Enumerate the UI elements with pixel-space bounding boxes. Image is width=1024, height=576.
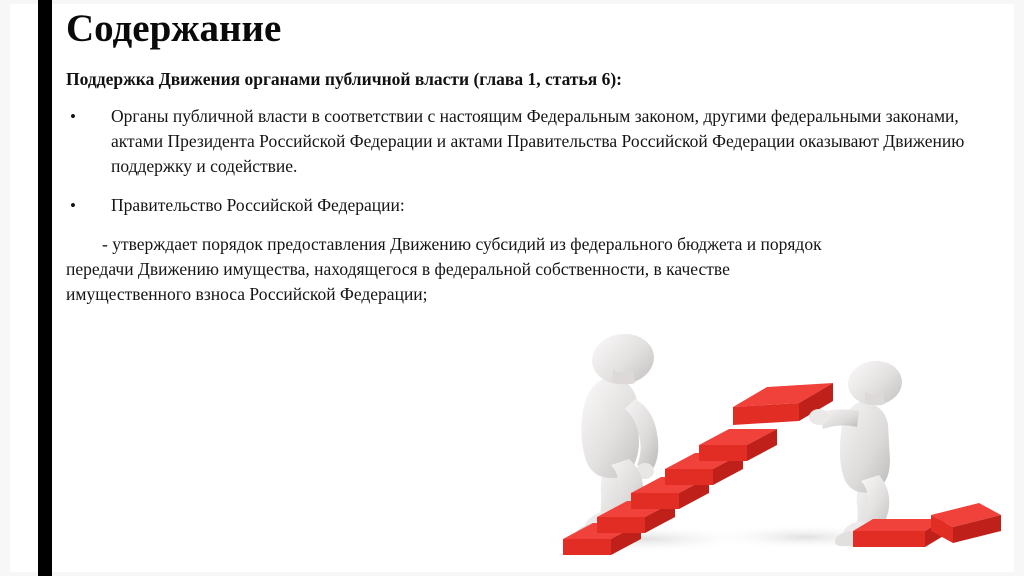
presentation-slide: Содержание Поддержка Движения органами п… <box>0 0 1024 576</box>
list-item-text: Правительство Российской Федерации: <box>111 195 405 215</box>
bullet-list: • Органы публичной власти в соответствии… <box>66 104 966 218</box>
page-title: Содержание <box>66 0 966 52</box>
list-item-text: Органы публичной власти в соответствии с… <box>111 106 964 176</box>
stairs-illustration-svg <box>445 325 1013 561</box>
bullet-dot-icon: • <box>70 193 76 218</box>
list-item: • Органы публичной власти в соответствии… <box>66 104 966 179</box>
sub-paragraph: - утверждает порядок предоставления Движ… <box>66 232 856 307</box>
left-accent-bar <box>38 0 52 576</box>
slide-subtitle: Поддержка Движения органами публичной вл… <box>66 68 966 90</box>
list-item: • Правительство Российской Федерации: <box>66 193 966 218</box>
illustration-figures-building-stairs <box>445 325 1013 561</box>
bullet-dot-icon: • <box>70 104 76 129</box>
